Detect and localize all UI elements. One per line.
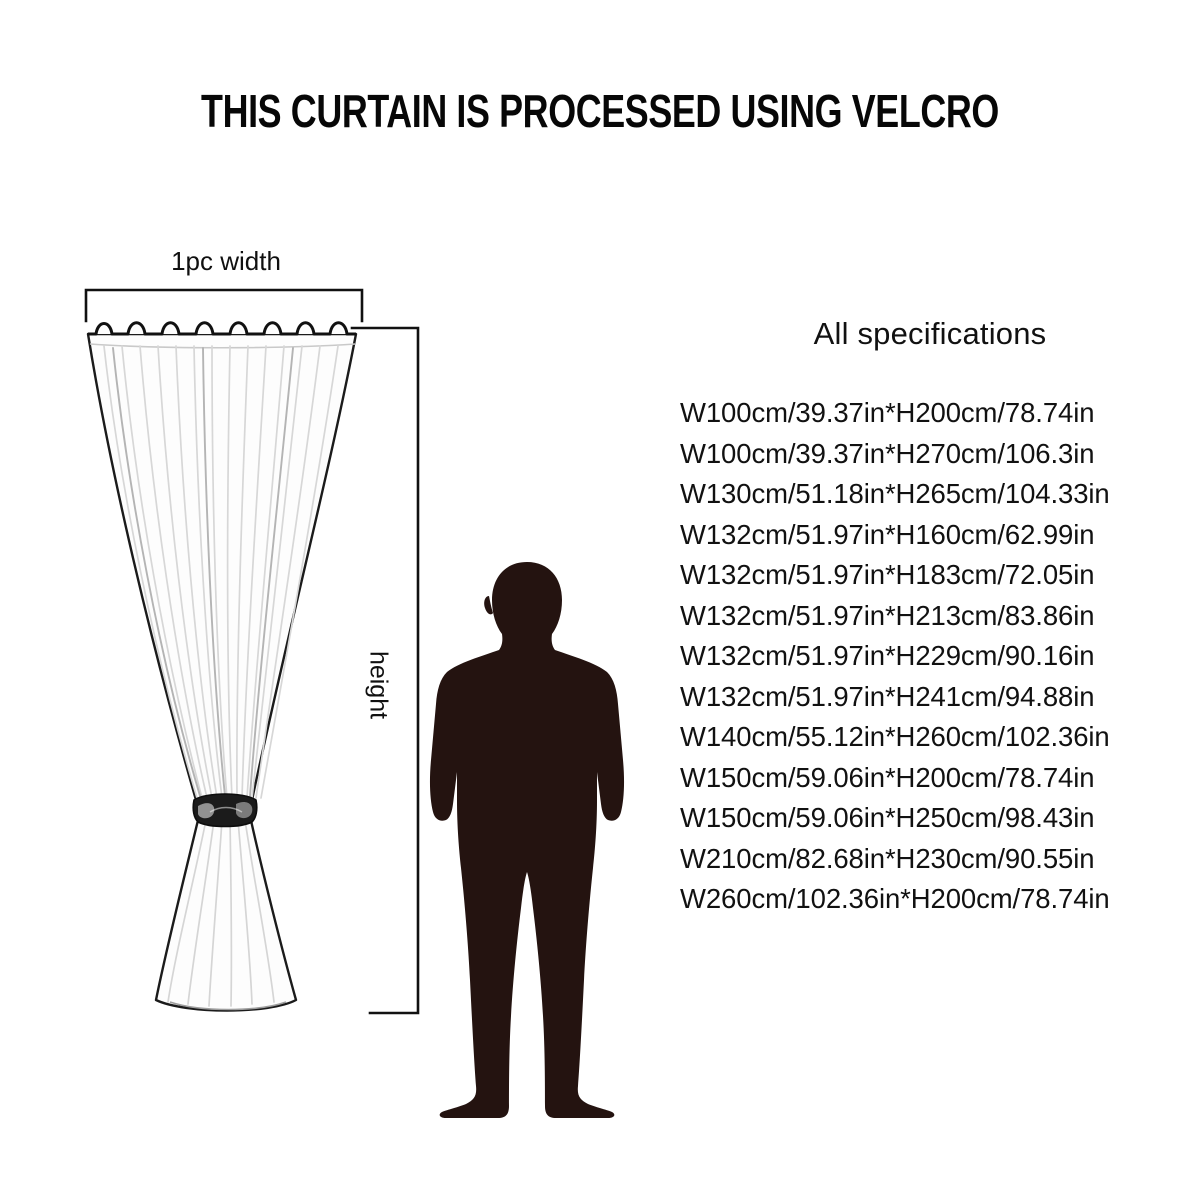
curtain-scalloped-header: [88, 323, 356, 334]
specification-item: W132cm/51.97in*H160cm/62.99in: [680, 515, 1180, 556]
specification-item: W100cm/39.37in*H200cm/78.74in: [680, 393, 1180, 434]
specifications-heading: All specifications: [680, 318, 1180, 349]
curtain-skirt: [156, 816, 296, 1011]
person-silhouette-icon: [430, 562, 624, 1118]
curtain-tieback-knot: [193, 794, 257, 827]
width-dimension-bracket: [86, 290, 362, 321]
product-infographic: THIS CURTAIN IS PROCESSED USING VELCRO: [0, 0, 1200, 1200]
specification-item: W260cm/102.36in*H200cm/78.74in: [680, 879, 1180, 920]
specification-item: W210cm/82.68in*H230cm/90.55in: [680, 839, 1180, 880]
height-dimension-label: height: [366, 651, 391, 719]
width-dimension-label: 1pc width: [86, 248, 366, 274]
specification-item: W100cm/39.37in*H270cm/106.3in: [680, 434, 1180, 475]
specification-item: W140cm/55.12in*H260cm/102.36in: [680, 717, 1180, 758]
specification-item: W132cm/51.97in*H183cm/72.05in: [680, 555, 1180, 596]
specification-item: W150cm/59.06in*H200cm/78.74in: [680, 758, 1180, 799]
specifications-panel: All specifications W100cm/39.37in*H200cm…: [680, 318, 1180, 920]
specifications-list: W100cm/39.37in*H200cm/78.74inW100cm/39.3…: [680, 393, 1180, 920]
specification-item: W132cm/51.97in*H229cm/90.16in: [680, 636, 1180, 677]
specification-item: W132cm/51.97in*H213cm/83.86in: [680, 596, 1180, 637]
curtain-illustration: [88, 323, 356, 1011]
specification-item: W150cm/59.06in*H250cm/98.43in: [680, 798, 1180, 839]
specification-item: W132cm/51.97in*H241cm/94.88in: [680, 677, 1180, 718]
specification-item: W130cm/51.18in*H265cm/104.33in: [680, 474, 1180, 515]
